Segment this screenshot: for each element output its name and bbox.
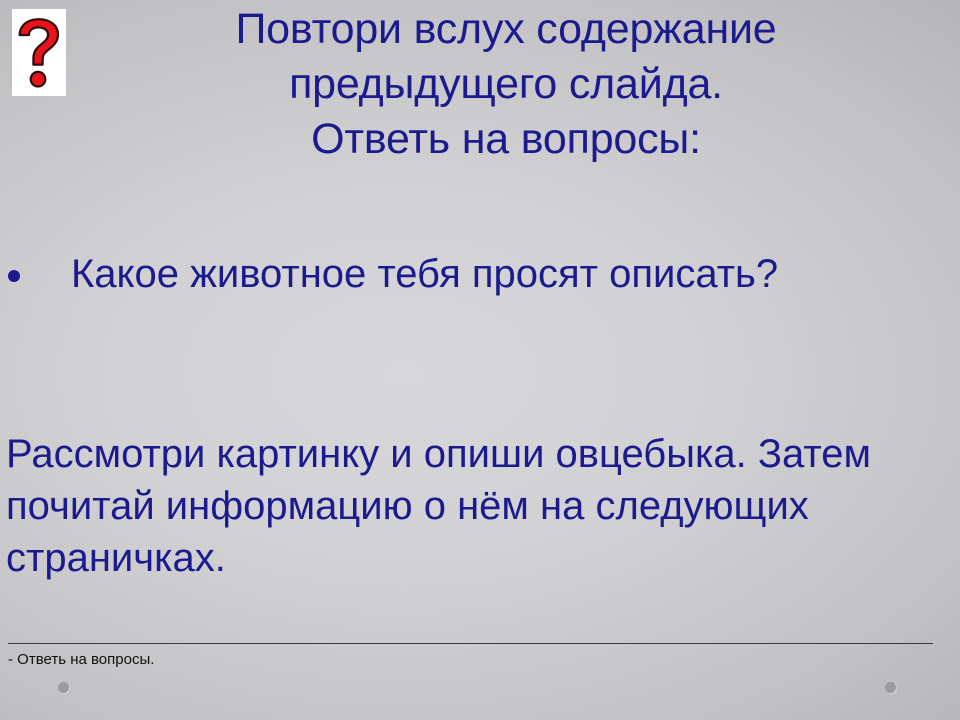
- question-mark-icon: [12, 9, 66, 96]
- title-line-2: предыдущего слайда.: [96, 57, 916, 112]
- title-line-1: Повтори вслух содержание: [96, 2, 916, 57]
- slide-canvas: Повтори вслух содержание предыдущего сла…: [0, 0, 960, 720]
- list-item: Какое животное тебя просят описать?: [8, 248, 888, 300]
- footer-dot-left-decoration: [58, 682, 69, 693]
- page-title: Повтори вслух содержание предыдущего сла…: [96, 2, 916, 167]
- footer-dot-right-decoration: [885, 682, 896, 693]
- question-list: Какое животное тебя просят описать?: [8, 248, 888, 300]
- footer-divider: [8, 643, 933, 644]
- list-item-text: Какое животное тебя просят описать?: [20, 248, 888, 300]
- footer-note: - Ответь на вопросы.: [8, 650, 154, 670]
- bullet-icon: [8, 270, 20, 282]
- instruction-paragraph: Рассмотри картинку и опиши овцебыка. Зат…: [6, 428, 906, 584]
- title-line-3: Ответь на вопросы:: [96, 112, 916, 167]
